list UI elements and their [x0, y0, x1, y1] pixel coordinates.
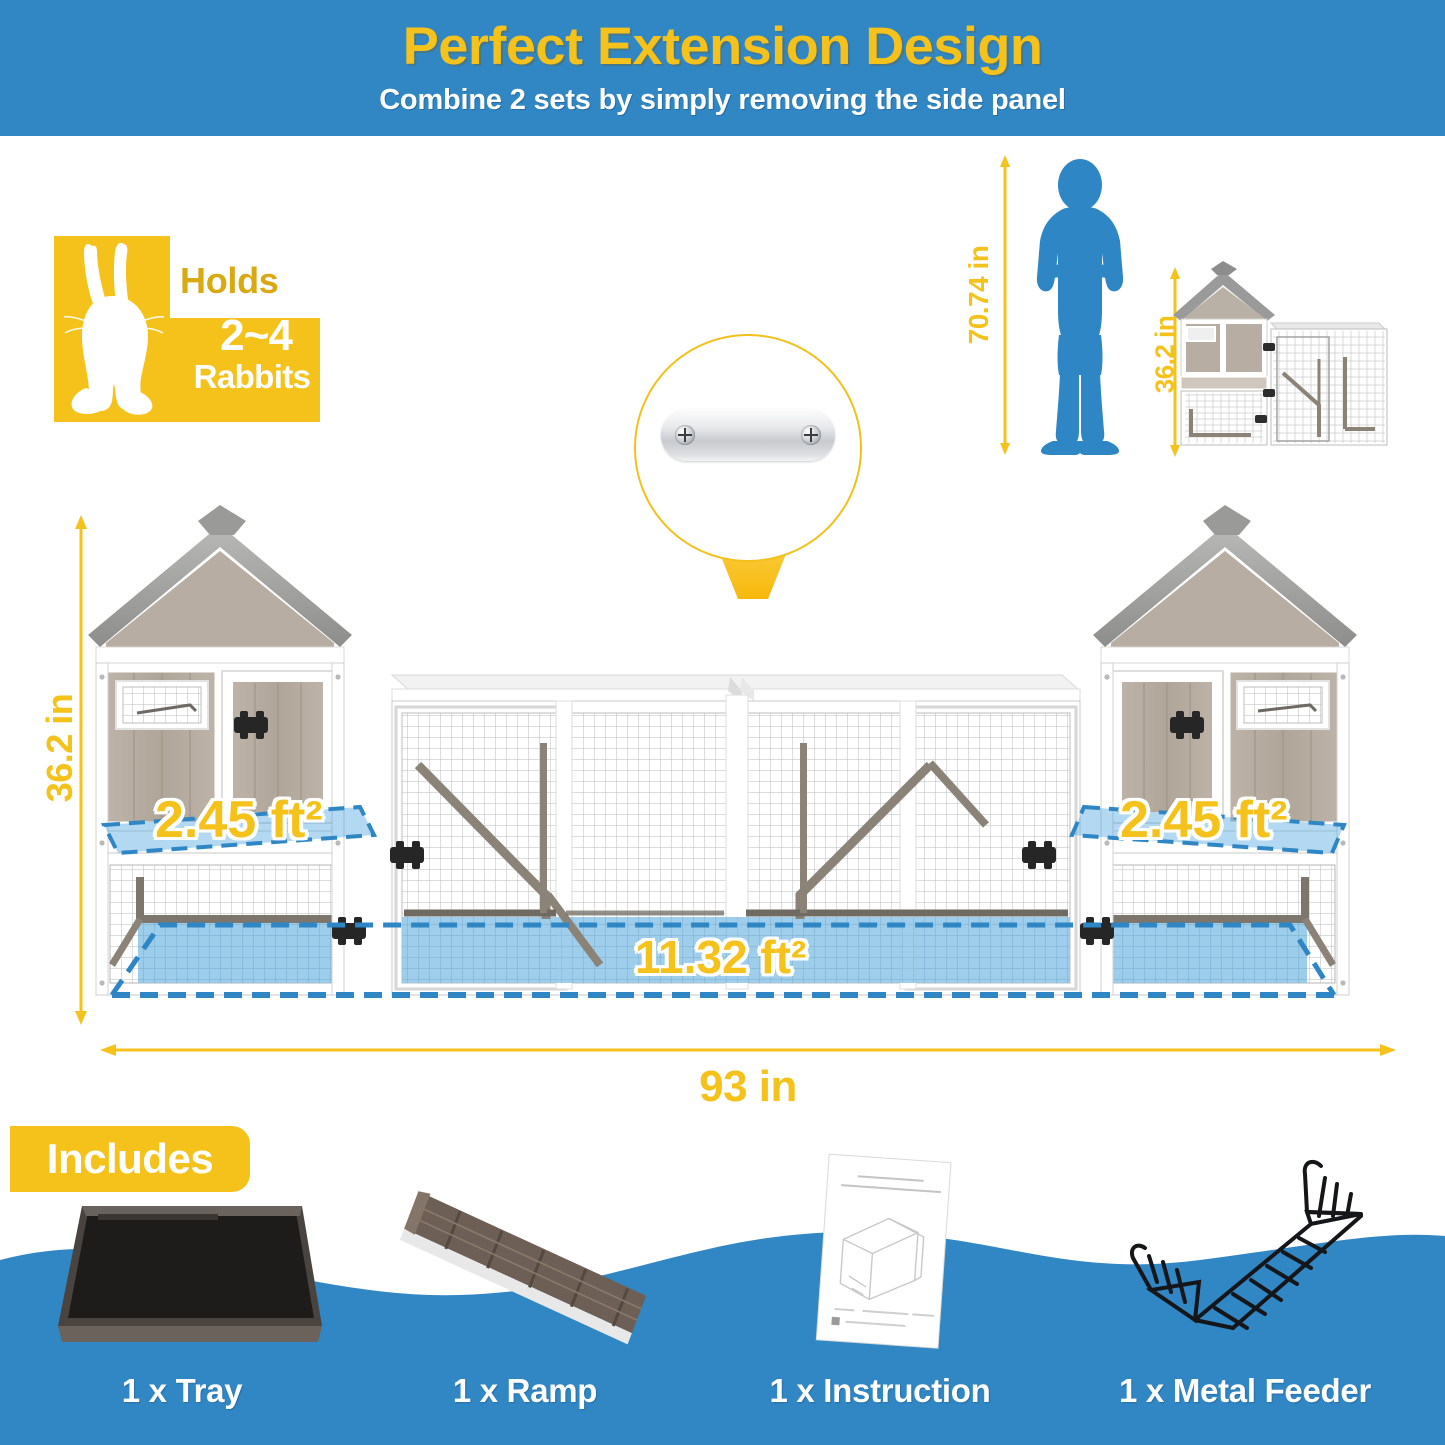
human-height-dimension: 70.74 in: [965, 155, 1011, 455]
capacity-badge: Holds 2~4 Rabbits: [54, 236, 320, 422]
area-label-center-run: 11.32 ft²: [635, 930, 806, 984]
area-label-right-house: 2.45 ft²: [1120, 790, 1288, 850]
instruction-manual-icon: [710, 1150, 1050, 1370]
arrow-vertical-human: [998, 155, 1012, 455]
human-silhouette-icon: [1015, 159, 1145, 455]
metal-feeder-icon: [1075, 1150, 1415, 1370]
infographic-canvas: Perfect Extension Design Combine 2 sets …: [0, 0, 1445, 1445]
arrow-horizontal-width: [100, 1040, 1396, 1060]
mini-hutch-illustration: [1167, 259, 1393, 455]
right-house: [1093, 505, 1357, 995]
ramp-icon: [355, 1150, 695, 1370]
capacity-count: 2~4: [180, 314, 332, 358]
include-item-ramp: 1 x Ramp: [355, 1150, 695, 1445]
human-height-value: 70.74 in: [963, 195, 995, 395]
header-banner: Perfect Extension Design Combine 2 sets …: [0, 0, 1445, 136]
include-caption-instruction: 1 x Instruction: [710, 1372, 1050, 1410]
includes-section: Includes 1 x Tray: [0, 1110, 1445, 1445]
include-item-tray: 1 x Tray: [12, 1150, 352, 1445]
page-title: Perfect Extension Design: [403, 19, 1043, 75]
page-subtitle: Combine 2 sets by simply removing the si…: [379, 84, 1066, 117]
screw-icon-left: [675, 425, 695, 445]
include-item-metal-feeder: 1 x Metal Feeder: [1075, 1150, 1415, 1445]
area-label-left-house: 2.45 ft²: [155, 790, 323, 850]
include-item-instruction: 1 x Instruction: [710, 1150, 1050, 1445]
tray-icon: [12, 1150, 352, 1370]
screw-icon-right: [801, 425, 821, 445]
include-caption-metal-feeder: 1 x Metal Feeder: [1075, 1372, 1415, 1410]
holds-label: Holds: [180, 260, 279, 302]
product-width-value: 93 in: [100, 1062, 1396, 1112]
capacity-animal-label: Rabbits: [172, 360, 332, 393]
left-house: [88, 505, 352, 995]
rabbit-icon: [62, 240, 166, 420]
include-caption-tray: 1 x Tray: [12, 1372, 352, 1410]
connector-plate-icon: [661, 409, 835, 461]
scale-comparison: 70.74 in 36.2 in: [955, 155, 1395, 475]
include-caption-ramp: 1 x Ramp: [355, 1372, 695, 1410]
